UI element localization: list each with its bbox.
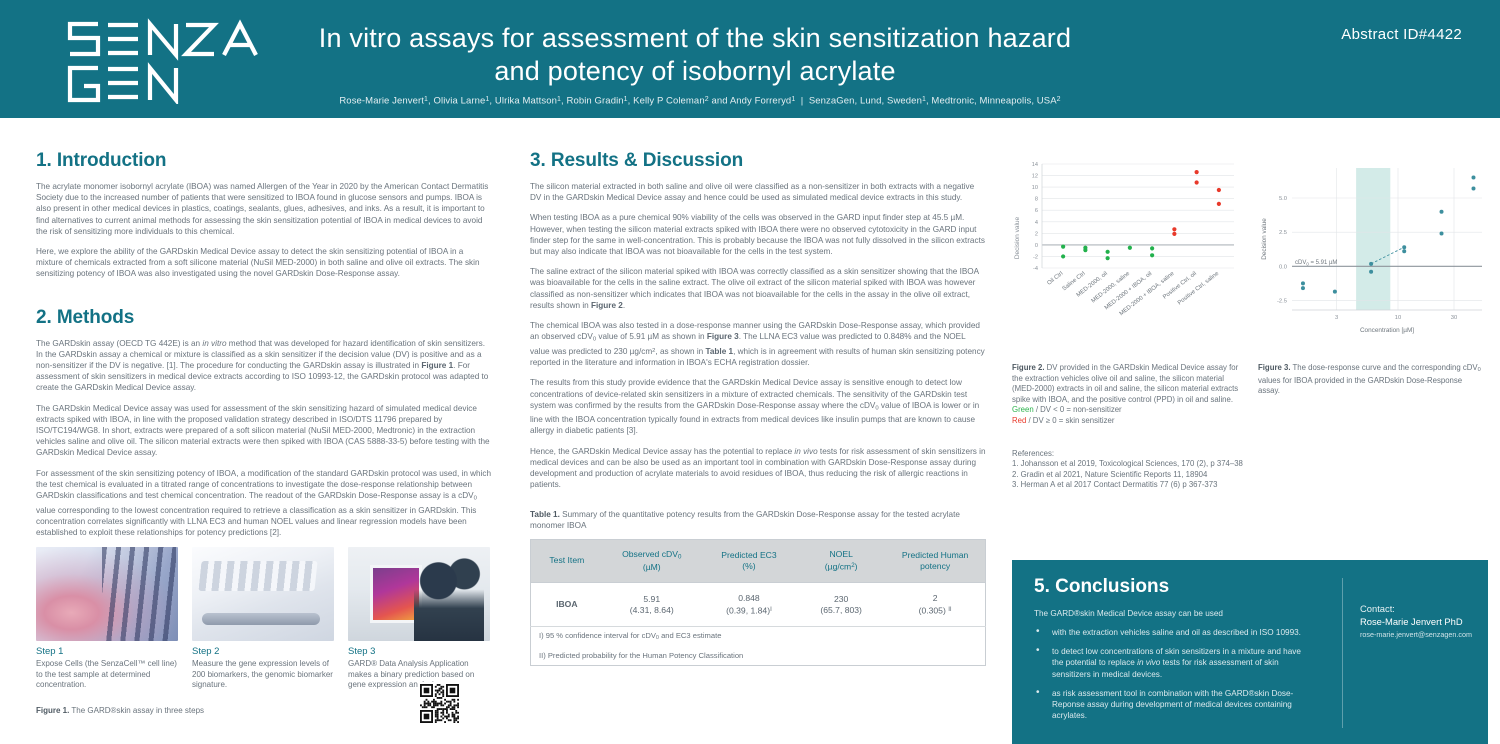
column-middle: 3. Results & Discussion The silicon mate… bbox=[530, 150, 986, 666]
conclusions-content: 5. Conclusions The GARD®skin Medical Dev… bbox=[1012, 560, 1322, 739]
poster-header: In vitro assays for assessment of the sk… bbox=[0, 0, 1500, 118]
step1-title: Step 1 bbox=[36, 646, 178, 657]
svg-text:Decision value: Decision value bbox=[1261, 218, 1268, 260]
svg-text:2.5: 2.5 bbox=[1279, 230, 1287, 236]
table1-caption-label: Table 1. bbox=[530, 510, 560, 519]
figure1-caption-text: The GARD®skin assay in three steps bbox=[69, 706, 204, 715]
figure1-step: Step 3 GARD® Data Analysis Application m… bbox=[348, 547, 490, 691]
cell-potency-note: II bbox=[948, 606, 951, 613]
results-paragraph-2: When testing IBOA as a pure chemical 90%… bbox=[530, 212, 986, 257]
section-heading-results: 3. Results & Discussion bbox=[530, 150, 986, 172]
cell-cdv0-ci: (4.31, 8.64) bbox=[630, 605, 674, 615]
section-heading-introduction: 1. Introduction bbox=[36, 150, 492, 172]
svg-text:-2.5: -2.5 bbox=[1277, 298, 1287, 304]
svg-text:0: 0 bbox=[1035, 243, 1038, 249]
svg-text:8: 8 bbox=[1035, 197, 1038, 203]
list-item: to detect low concentrations of skin sen… bbox=[1034, 646, 1304, 680]
figure2-caption-text: DV provided in the GARDskin Medical Devi… bbox=[1012, 363, 1238, 404]
author-list: Rose-Marie Jenvert1, Olivia Larne1, Ulri… bbox=[300, 94, 1100, 108]
results-paragraph-4: The chemical IBOA was also tested in a d… bbox=[530, 320, 986, 368]
figure1-step: Step 1 Expose Cells (the SenzaCell™ cell… bbox=[36, 547, 178, 691]
list-item: as risk assessment tool in combination w… bbox=[1034, 688, 1304, 722]
cell-noel-ci: (65.7, 803) bbox=[820, 605, 862, 615]
reference-item: 3. Herman A et al 2017 Contact Dermatiti… bbox=[1012, 480, 1488, 491]
cell-ec3-value: 0.848 bbox=[738, 593, 760, 603]
figure2-caption-label: Figure 2. bbox=[1012, 363, 1045, 372]
conclusions-list: with the extraction vehicles saline and … bbox=[1034, 627, 1304, 721]
cell-test-item: IBOA bbox=[531, 582, 603, 626]
col-header-human-potency: Predicted Humanpotency bbox=[885, 539, 985, 582]
figure1-caption-label: Figure 1. bbox=[36, 706, 69, 715]
legend-green-text: / DV < 0 = non-sensitizer bbox=[1034, 405, 1122, 414]
col-header-test-item-label: Test Item bbox=[549, 555, 584, 565]
reference-item: 2. Gradin et al 2021, Nature Scientific … bbox=[1012, 470, 1488, 481]
contact-label: Contact: bbox=[1360, 602, 1490, 615]
svg-text:MED-2000, saline: MED-2000, saline bbox=[1091, 270, 1132, 304]
svg-text:5.0: 5.0 bbox=[1279, 196, 1287, 202]
intro-paragraph-2: Here, we explore the ability of the GARD… bbox=[36, 246, 492, 280]
contact-email[interactable]: rose-marie.jenvert@senzagen.com bbox=[1360, 629, 1490, 640]
cell-potency-ci: (0.305) bbox=[919, 605, 946, 615]
figures-row: Decision value -4-202468101214 Oil CtrlS… bbox=[1012, 150, 1488, 355]
figure-captions: Figure 2. DV provided in the GARDskin Me… bbox=[1012, 363, 1488, 427]
results-paragraph-1: The silicon material extracted in both s… bbox=[530, 181, 986, 203]
vertical-divider bbox=[1342, 578, 1343, 728]
legend-red-label: Red bbox=[1012, 416, 1026, 425]
svg-text:4: 4 bbox=[1035, 220, 1038, 226]
table-body: IBOA 5.91 (4.31, 8.64) 0.848 (0.39, 1.84… bbox=[531, 582, 986, 626]
step1-text: Expose Cells (the SenzaCell™ cell line) … bbox=[36, 659, 178, 691]
figure2-caption: Figure 2. DV provided in the GARDskin Me… bbox=[1012, 363, 1240, 427]
svg-text:-2: -2 bbox=[1033, 254, 1038, 260]
svg-text:cDV0 = 5.91 µM: cDV0 = 5.91 µM bbox=[1295, 260, 1337, 267]
figure1-step: Step 2 Measure the gene expression level… bbox=[192, 547, 334, 691]
column-left: 1. Introduction The acrylate monomer iso… bbox=[36, 150, 492, 716]
abstract-id-badge: Abstract ID#4422 bbox=[1341, 26, 1462, 43]
table-footnote-row: I) 95 % confidence interval for cDV0 and… bbox=[531, 627, 986, 648]
step3-photo bbox=[348, 547, 490, 641]
list-item: with the extraction vehicles saline and … bbox=[1034, 627, 1304, 638]
svg-text:Concentration [µM]: Concentration [µM] bbox=[1360, 327, 1414, 334]
page-title: In vitro assays for assessment of the sk… bbox=[300, 22, 1090, 88]
results-paragraph-3: The saline extract of the silicon materi… bbox=[530, 266, 986, 311]
table-footnote-row: II) Predicted probability for the Human … bbox=[531, 647, 986, 666]
contact-name: Rose-Marie Jenvert PhD bbox=[1360, 615, 1490, 628]
potency-results-table: Test Item Observed cDV0(µM) Predicted EC… bbox=[530, 539, 986, 667]
cell-cdv0-value: 5.91 bbox=[643, 594, 660, 604]
cell-ec3-note: I bbox=[770, 606, 772, 613]
contact-block: Contact: Rose-Marie Jenvert PhD rose-mar… bbox=[1360, 602, 1490, 640]
section-spacer bbox=[36, 289, 492, 307]
section-heading-conclusions: 5. Conclusions bbox=[1034, 576, 1304, 598]
column-right: Decision value -4-202468101214 Oil CtrlS… bbox=[1012, 150, 1488, 491]
conclusions-panel: 5. Conclusions The GARD®skin Medical Dev… bbox=[1012, 560, 1488, 744]
references-heading: References: bbox=[1012, 449, 1488, 460]
table1-caption: Table 1. Summary of the quantitative pot… bbox=[530, 509, 986, 531]
cell-potency-value: 2 bbox=[933, 593, 938, 603]
results-paragraph-5: The results from this study provide evid… bbox=[530, 377, 986, 436]
methods-paragraph-1: The GARDskin assay (OECD TG 442E) is an … bbox=[36, 338, 492, 394]
col-header-ec3: Predicted EC3(%) bbox=[701, 539, 797, 582]
qr-code[interactable] bbox=[418, 682, 461, 725]
svg-text:3: 3 bbox=[1335, 315, 1338, 321]
cell-noel: 230 (65.7, 803) bbox=[797, 582, 885, 626]
section-heading-methods: 2. Methods bbox=[36, 307, 492, 329]
figure3-caption: Figure 3. The dose-response curve and th… bbox=[1258, 363, 1486, 427]
cell-cdv0: 5.91 (4.31, 8.64) bbox=[603, 582, 701, 626]
step1-photo bbox=[36, 547, 178, 641]
svg-text:2: 2 bbox=[1035, 231, 1038, 237]
figure1-steps: Step 1 Expose Cells (the SenzaCell™ cell… bbox=[36, 547, 492, 691]
cell-ec3-ci: (0.39, 1.84) bbox=[726, 605, 770, 615]
svg-text:12: 12 bbox=[1032, 174, 1038, 180]
table-row: IBOA 5.91 (4.31, 8.64) 0.848 (0.39, 1.84… bbox=[531, 582, 986, 626]
methods-paragraph-3: For assessment of the skin sensitizing p… bbox=[36, 468, 492, 539]
results-paragraph-6: Hence, the GARDskin Medical Device assay… bbox=[530, 446, 986, 491]
cell-ec3: 0.848 (0.39, 1.84)I bbox=[701, 582, 797, 626]
figure3-caption-text: The dose-response curve and the correspo… bbox=[1258, 363, 1481, 395]
svg-text:30: 30 bbox=[1451, 315, 1457, 321]
senzagen-logo bbox=[62, 16, 292, 104]
poster-canvas: In vitro assays for assessment of the sk… bbox=[0, 0, 1500, 744]
figure3-caption-label: Figure 3. bbox=[1258, 363, 1291, 372]
reference-item: 1. Johansson et al 2019, Toxicological S… bbox=[1012, 459, 1488, 470]
svg-text:0.0: 0.0 bbox=[1279, 264, 1287, 270]
table1-caption-text: Summary of the quantitative potency resu… bbox=[530, 510, 960, 530]
table-header: Test Item Observed cDV0(µM) Predicted EC… bbox=[531, 539, 986, 582]
col-header-noel: NOEL(µg/cm2) bbox=[797, 539, 885, 582]
svg-text:Positive Ctrl, saline: Positive Ctrl, saline bbox=[1177, 270, 1221, 306]
legend-green-label: Green bbox=[1012, 405, 1034, 414]
step2-photo bbox=[192, 547, 334, 641]
references-block: References: 1. Johansson et al 2019, Tox… bbox=[1012, 449, 1488, 491]
col-header-test-item: Test Item bbox=[531, 539, 603, 582]
table-footnote-2: II) Predicted probability for the Human … bbox=[531, 647, 986, 666]
cell-noel-value: 230 bbox=[834, 594, 848, 604]
step2-title: Step 2 bbox=[192, 646, 334, 657]
svg-text:10: 10 bbox=[1395, 315, 1401, 321]
svg-text:6: 6 bbox=[1035, 208, 1038, 214]
col-header-cdv0: Observed cDV0(µM) bbox=[603, 539, 701, 582]
svg-text:Oil Ctrl: Oil Ctrl bbox=[1046, 271, 1064, 287]
svg-text:14: 14 bbox=[1032, 162, 1038, 168]
svg-text:-4: -4 bbox=[1033, 266, 1038, 272]
methods-paragraph-2: The GARDskin Medical Device assay was us… bbox=[36, 403, 492, 459]
figure3-chart: 31030-2.50.02.55.0cDV0 = 5.91 µMConcentr… bbox=[1250, 150, 1488, 355]
step3-title: Step 3 bbox=[348, 646, 490, 657]
intro-paragraph-1: The acrylate monomer isobornyl acrylate … bbox=[36, 181, 492, 237]
svg-text:Decision value: Decision value bbox=[1014, 216, 1021, 259]
figure2-chart: Decision value -4-202468101214 Oil CtrlS… bbox=[1012, 150, 1242, 355]
cell-potency: 2 (0.305) II bbox=[885, 582, 985, 626]
legend-red-text: / DV ≥ 0 = skin sensitizer bbox=[1026, 416, 1114, 425]
svg-text:10: 10 bbox=[1032, 185, 1038, 191]
table-header-row: Test Item Observed cDV0(µM) Predicted EC… bbox=[531, 539, 986, 582]
table-footnote-1: I) 95 % confidence interval for cDV0 and… bbox=[531, 627, 986, 648]
table-footnotes: I) 95 % confidence interval for cDV0 and… bbox=[531, 627, 986, 666]
step2-text: Measure the gene expression levels of 20… bbox=[192, 659, 334, 691]
conclusions-lead: The GARD®skin Medical Device assay can b… bbox=[1034, 608, 1304, 619]
